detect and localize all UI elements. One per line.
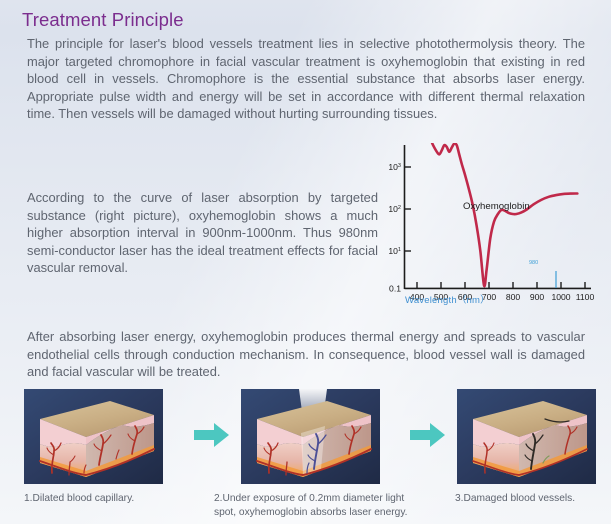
figure-dilated-capillary <box>24 389 163 484</box>
figure-caption-1: 1.Dilated blood capillary. <box>24 492 194 506</box>
y-tick-label-100: 102 <box>388 204 401 214</box>
figure-caption-3: 3.Damaged blood vessels. <box>455 492 611 506</box>
y-tick-labels: 103 102 101 0.1 <box>388 162 401 293</box>
series-label: Oxyhemoglobin <box>463 201 530 212</box>
y-tick-label-1000: 103 <box>388 162 401 172</box>
oxyhemoglobin-curve <box>408 143 577 286</box>
page-title: Treatment Principle <box>22 9 184 31</box>
arrow-right-icon <box>192 420 232 450</box>
marker-label-980: 980 <box>529 260 538 266</box>
paragraph-mechanism: After absorbing laser energy, oxyhemoglo… <box>27 328 585 381</box>
x-tick-label-900: 900 <box>530 292 545 302</box>
y-tick-label-0.1: 0.1 <box>389 284 401 294</box>
x-tick-label-1000: 1000 <box>551 292 570 302</box>
x-tick-label-800: 800 <box>506 292 521 302</box>
x-axis-title: Wavelength（nm） <box>405 292 490 306</box>
paragraph-principle: The principle for laser's blood vessels … <box>27 35 585 123</box>
y-axis-ticks <box>405 167 412 251</box>
absorption-chart: 103 102 101 0.1 400 500 600 700 800 900 … <box>383 143 597 315</box>
treatment-principle-page: Treatment Principle The principle for la… <box>0 0 611 524</box>
figure-caption-2: 2.Under exposure of 0.2mm diameter light… <box>214 492 424 519</box>
chart-canvas: 103 102 101 0.1 400 500 600 700 800 900 … <box>383 143 597 315</box>
y-tick-label-10: 101 <box>388 246 401 256</box>
figure-laser-exposure <box>241 389 380 484</box>
figure-damaged-vessels <box>457 389 596 484</box>
paragraph-absorption: According to the curve of laser absorpti… <box>27 189 378 277</box>
x-axis-ticks <box>417 282 585 288</box>
arrow-right-icon <box>408 420 448 450</box>
x-tick-label-1100: 1100 <box>576 292 595 302</box>
